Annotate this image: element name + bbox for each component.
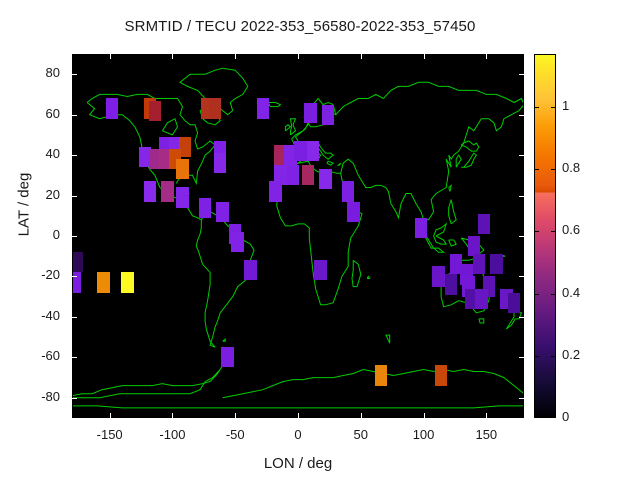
data-cell <box>445 274 458 294</box>
colorbar-tick-mark <box>551 169 556 170</box>
x-tick-mark <box>235 413 236 418</box>
colorbar-tick-mark <box>534 356 539 357</box>
data-cell <box>216 202 229 222</box>
x-tick-mark <box>486 54 487 59</box>
colorbar-tick-mark <box>534 107 539 108</box>
y-tick-mark <box>519 398 524 399</box>
x-tick-mark <box>172 54 173 59</box>
x-tick-label: -100 <box>142 427 202 442</box>
y-tick-mark <box>519 155 524 156</box>
data-cell <box>176 159 189 179</box>
colorbar-tick-label: 0.2 <box>562 347 622 362</box>
data-cell <box>231 232 244 252</box>
y-tick-mark <box>519 276 524 277</box>
colorbar-tick-label: 0 <box>562 409 622 424</box>
data-cell <box>475 289 488 309</box>
colorbar[interactable] <box>534 54 556 418</box>
x-tick-mark <box>298 413 299 418</box>
data-cell <box>415 218 428 238</box>
data-cell <box>432 266 445 286</box>
x-tick-mark <box>486 413 487 418</box>
y-tick-mark <box>72 74 77 75</box>
data-cell <box>161 181 174 201</box>
x-tick-mark <box>235 54 236 59</box>
data-cell <box>269 181 282 201</box>
data-cell <box>307 141 320 161</box>
colorbar-tick-label: 0.6 <box>562 222 622 237</box>
data-cell <box>478 214 491 234</box>
data-cell <box>322 105 335 125</box>
x-tick-mark <box>424 413 425 418</box>
x-tick-label: -50 <box>205 427 265 442</box>
data-cell <box>319 169 332 189</box>
data-cell <box>144 181 157 201</box>
y-tick-mark <box>72 276 77 277</box>
map-plot-area[interactable] <box>72 54 524 418</box>
data-cell <box>257 98 270 118</box>
x-tick-label: 100 <box>394 427 454 442</box>
x-tick-mark <box>110 413 111 418</box>
colorbar-tick-mark <box>534 169 539 170</box>
y-tick-label: -80 <box>0 389 60 404</box>
y-tick-mark <box>72 196 77 197</box>
colorbar-tick-label: 0.4 <box>562 285 622 300</box>
data-cell <box>473 254 486 274</box>
x-tick-label: 50 <box>331 427 391 442</box>
chart-root: SRMTID / TECU 2022-353_56580-2022-353_57… <box>0 0 640 480</box>
colorbar-tick-mark <box>551 294 556 295</box>
y-tick-mark <box>519 357 524 358</box>
y-tick-label: -60 <box>0 348 60 363</box>
data-cell <box>302 165 315 185</box>
y-tick-mark <box>72 398 77 399</box>
data-cell <box>121 272 134 292</box>
y-tick-mark <box>519 196 524 197</box>
x-tick-mark <box>361 413 362 418</box>
x-tick-mark <box>298 54 299 59</box>
data-cell <box>508 293 521 313</box>
y-tick-mark <box>519 317 524 318</box>
data-cell <box>214 153 227 173</box>
data-cell <box>435 365 448 385</box>
data-cell <box>221 347 234 367</box>
data-cell <box>490 254 503 274</box>
x-tick-mark <box>424 54 425 59</box>
y-tick-mark <box>519 236 524 237</box>
data-cell <box>294 141 307 161</box>
data-cell <box>314 260 327 280</box>
data-cell <box>72 252 83 272</box>
data-cell <box>199 198 212 218</box>
x-tick-mark <box>361 54 362 59</box>
y-tick-mark <box>72 357 77 358</box>
data-cell <box>468 236 481 256</box>
colorbar-tick-mark <box>551 231 556 232</box>
data-cell <box>97 272 110 292</box>
y-tick-mark <box>519 115 524 116</box>
y-tick-label: 80 <box>0 65 60 80</box>
x-tick-label: -150 <box>80 427 140 442</box>
data-cell <box>342 181 355 201</box>
chart-title: SRMTID / TECU 2022-353_56580-2022-353_57… <box>0 18 600 35</box>
coastline-overlay <box>72 54 524 418</box>
data-cell <box>375 365 388 385</box>
x-tick-label: 0 <box>268 427 328 442</box>
y-tick-label: 0 <box>0 227 60 242</box>
y-tick-label: 40 <box>0 146 60 161</box>
colorbar-tick-label: 1 <box>562 98 622 113</box>
y-tick-label: -40 <box>0 308 60 323</box>
data-cell <box>347 202 360 222</box>
x-tick-mark <box>110 54 111 59</box>
y-tick-mark <box>519 74 524 75</box>
colorbar-tick-mark <box>551 356 556 357</box>
colorbar-tick-mark <box>551 107 556 108</box>
x-tick-label: 150 <box>456 427 516 442</box>
colorbar-tick-label: 0.8 <box>562 160 622 175</box>
colorbar-tick-mark <box>534 294 539 295</box>
y-tick-label: 20 <box>0 187 60 202</box>
data-cell <box>149 101 162 121</box>
x-tick-mark <box>172 413 173 418</box>
data-cell <box>176 187 189 207</box>
y-tick-mark <box>72 155 77 156</box>
y-tick-mark <box>72 115 77 116</box>
y-tick-mark <box>72 236 77 237</box>
data-cell <box>106 98 119 118</box>
colorbar-tick-mark <box>534 231 539 232</box>
data-cell <box>209 98 222 118</box>
data-cell <box>287 165 300 185</box>
x-axis-title: LON / deg <box>72 455 524 472</box>
data-cell <box>304 103 317 123</box>
y-tick-mark <box>72 317 77 318</box>
y-tick-label: -20 <box>0 267 60 282</box>
y-tick-label: 60 <box>0 106 60 121</box>
data-cell <box>244 260 257 280</box>
data-cell <box>72 272 81 292</box>
